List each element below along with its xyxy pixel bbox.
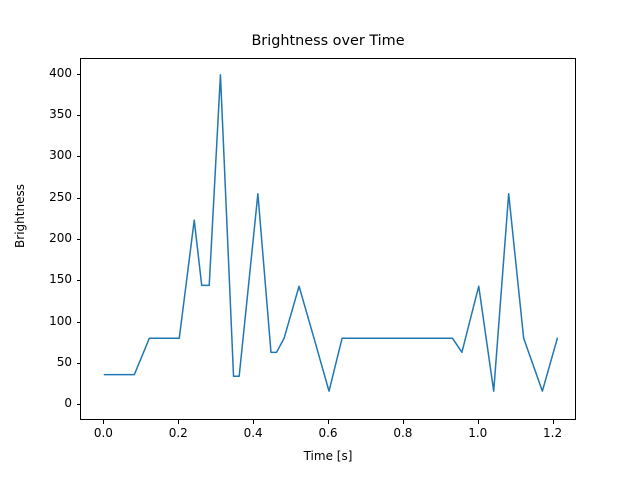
y-axis-tick-label: 200 (12, 231, 72, 245)
y-axis-tick-label: 400 (12, 66, 72, 80)
data-series-line (104, 75, 557, 391)
x-axis-tick-label: 1.2 (523, 426, 583, 440)
x-axis-tick-label: 0.6 (298, 426, 358, 440)
y-axis-label: Brightness (13, 166, 27, 266)
x-axis-tick-label: 0.8 (373, 426, 433, 440)
y-axis-tick-label: 350 (12, 107, 72, 121)
y-axis-tick-label: 150 (12, 272, 72, 286)
y-axis-tick-label: 100 (12, 314, 72, 328)
y-axis-tick-label: 300 (12, 148, 72, 162)
y-axis-tick-label: 50 (12, 355, 72, 369)
line-chart-svg (81, 59, 577, 421)
figure-canvas: Brightness over Time Brightness Time [s]… (0, 0, 640, 480)
x-axis-label: Time [s] (80, 449, 576, 463)
y-axis-tick-label: 0 (12, 396, 72, 410)
x-axis-tick-label: 0.2 (148, 426, 208, 440)
y-axis-tick-label: 250 (12, 190, 72, 204)
x-axis-tick-label: 0.4 (223, 426, 283, 440)
page-title: Brightness over Time (80, 32, 576, 50)
plot-area (80, 58, 576, 420)
x-axis-tick-label: 0.0 (73, 426, 133, 440)
x-axis-tick-label: 1.0 (448, 426, 508, 440)
